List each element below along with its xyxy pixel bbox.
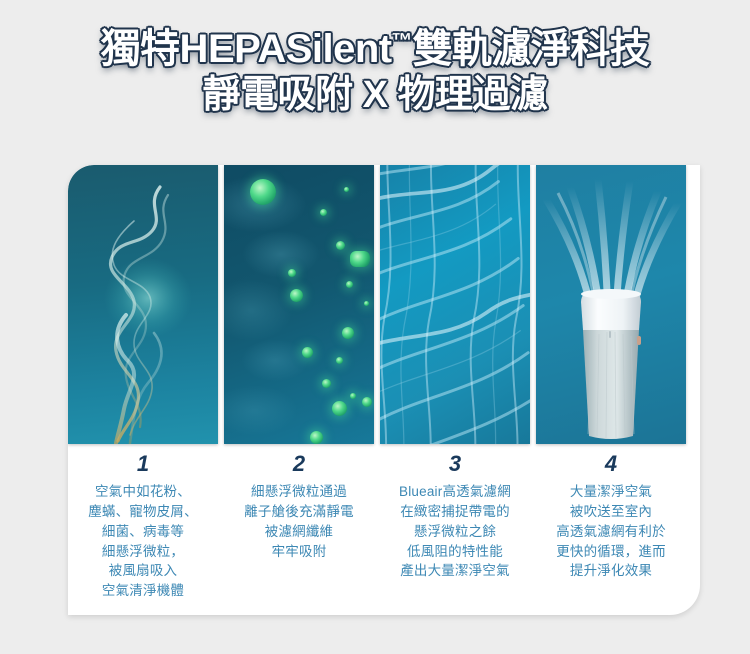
- step-number-1: 1: [68, 450, 218, 479]
- smoke-particles-photo: [68, 165, 218, 444]
- step-number-2: 2: [224, 450, 374, 479]
- headline-line-1-prefix: 獨特HEPASilent: [101, 27, 392, 71]
- panel-image-4: [536, 165, 686, 444]
- steps-card: 1 空氣中如花粉、 塵蟎、寵物皮屑、 細菌、病毒等 細懸浮微粒， 被風扇吸入 空…: [68, 165, 700, 615]
- panel-caption-row: 1 空氣中如花粉、 塵蟎、寵物皮屑、 細菌、病毒等 細懸浮微粒， 被風扇吸入 空…: [68, 444, 700, 615]
- step-text-4: 大量潔淨空氣 被吹送至室內 高透氣濾網有利於 更快的循環，進而 提升淨化效果: [536, 482, 686, 582]
- headline-block: 獨特HEPASilent™雙軌濾淨科技 靜電吸附 X 物理過濾: [0, 26, 750, 118]
- step-number-3: 3: [380, 450, 530, 479]
- step-text-1: 空氣中如花粉、 塵蟎、寵物皮屑、 細菌、病毒等 細懸浮微粒， 被風扇吸入 空氣清…: [68, 482, 218, 602]
- panel-image-3: [380, 165, 530, 444]
- step-caption-2: 2 細懸浮微粒通過 離子艙後充滿靜電 被濾網纖維 牢牢吸附: [224, 444, 374, 615]
- panel-image-1: [68, 165, 218, 444]
- panel-image-row: [68, 165, 700, 444]
- step-caption-3: 3 Blueair高透氣濾網 在緻密捕捉帶電的 懸浮微粒之餘 低風阻的特性能 產…: [380, 444, 530, 615]
- filter-fiber-mesh-photo: [380, 165, 530, 444]
- step-number-4: 4: [536, 450, 686, 479]
- headline-line-1: 獨特HEPASilent™雙軌濾淨科技: [0, 26, 750, 73]
- ion-chamber-texture: [224, 165, 374, 444]
- panel-image-2: [224, 165, 374, 444]
- step-caption-4: 4 大量潔淨空氣 被吹送至室內 高透氣濾網有利於 更快的循環，進而 提升淨化效果: [536, 444, 686, 615]
- step-text-3: Blueair高透氣濾網 在緻密捕捉帶電的 懸浮微粒之餘 低風阻的特性能 產出大…: [380, 482, 530, 582]
- headline-line-1-suffix: 雙軌濾淨科技: [412, 27, 649, 71]
- infographic-root: 獨特HEPASilent™雙軌濾淨科技 靜電吸附 X 物理過濾: [0, 0, 750, 654]
- headline-line-2: 靜電吸附 X 物理過濾: [0, 73, 750, 118]
- step-text-2: 細懸浮微粒通過 離子艙後充滿靜電 被濾網纖維 牢牢吸附: [224, 482, 374, 562]
- step-caption-1: 1 空氣中如花粉、 塵蟎、寵物皮屑、 細菌、病毒等 細懸浮微粒， 被風扇吸入 空…: [68, 444, 218, 615]
- air-purifier-device-photo: [571, 286, 651, 442]
- trademark-symbol: ™: [392, 30, 413, 53]
